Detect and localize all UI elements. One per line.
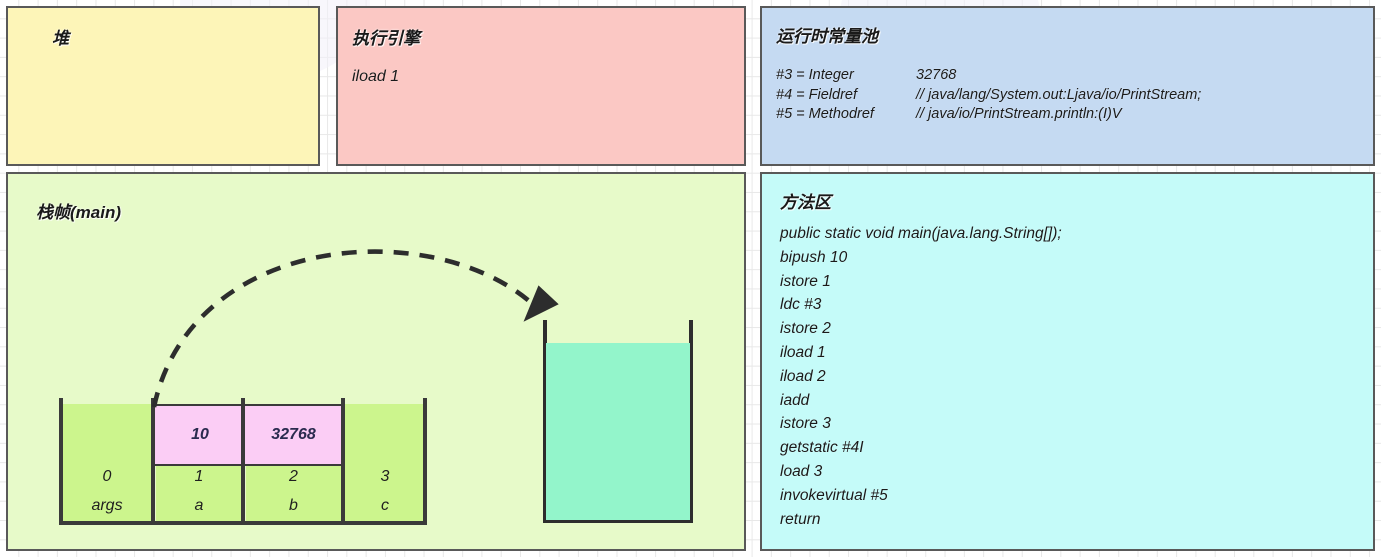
bytecode-line: ldc #3 (780, 293, 1062, 317)
runtime-constant-pool-title: 运行时常量池 (776, 22, 878, 47)
entry-key: #5 = Methodref (776, 105, 916, 125)
execution-engine-panel: 执行引擎 iload 1 (336, 6, 746, 166)
entry-key: #4 = Fieldref (776, 86, 916, 106)
slot-2-name: b (246, 497, 341, 515)
slot-0-name: args (62, 497, 152, 515)
bytecode-line: bipush 10 (780, 246, 1062, 270)
runtime-constant-pool-panel: 运行时常量池 #3 = Integer 32768 #4 = Fieldref … (760, 6, 1375, 166)
operand-stack (543, 320, 693, 523)
constant-pool-entry: #5 = Methodref // java/io/PrintStream.pr… (776, 105, 1201, 125)
bytecode-line: load 3 (780, 460, 1062, 484)
bytecode-line: iload 2 (780, 365, 1062, 389)
bytecode-line: invokevirtual #5 (780, 484, 1062, 508)
slot-2-value: 32768 (244, 404, 343, 466)
bytecode-line: iadd (780, 389, 1062, 413)
operand-stack-fill (546, 343, 690, 520)
slot-3-name: c (345, 497, 425, 515)
slot-3-index: 3 (345, 468, 425, 486)
constant-pool-entry: #3 = Integer 32768 (776, 66, 1201, 86)
bytecode-line: return (780, 508, 1062, 532)
slot-2-index: 2 (246, 468, 341, 486)
bytecode-line: iload 1 (780, 341, 1062, 365)
slot-1-index: 1 (156, 468, 242, 486)
method-area-bytecode: public static void main(java.lang.String… (780, 222, 1062, 531)
entry-value: // java/io/PrintStream.println:(I)V (916, 105, 1122, 125)
bytecode-line: getstatic #4I (780, 436, 1062, 460)
slot-1-value: 10 (154, 404, 246, 466)
local-variable-table: 10 32768 0 args 1 a 2 b 3 c (56, 398, 431, 525)
slot-0-index: 0 (62, 468, 152, 486)
stack-frame-title: 栈帧(main) (36, 198, 121, 223)
lvt-wall-bottom (59, 521, 427, 525)
bytecode-line: public static void main(java.lang.String… (780, 222, 1062, 246)
entry-value: 32768 (916, 66, 956, 86)
method-area-title: 方法区 (780, 188, 831, 213)
heap-panel: 堆 (6, 6, 320, 166)
bytecode-line: istore 2 (780, 317, 1062, 341)
diagram-canvas: 堆 执行引擎 iload 1 运行时常量池 #3 = Integer 32768… (0, 0, 1381, 557)
bytecode-line: istore 1 (780, 270, 1062, 294)
constant-pool-entry: #4 = Fieldref // java/lang/System.out:Lj… (776, 86, 1201, 106)
constant-pool-entries: #3 = Integer 32768 #4 = Fieldref // java… (776, 66, 1201, 125)
slot-1-name: a (156, 497, 242, 515)
entry-value: // java/lang/System.out:Ljava/io/PrintSt… (916, 86, 1201, 106)
execution-engine-title: 执行引擎 (352, 24, 420, 49)
current-instruction: iload 1 (352, 68, 399, 86)
entry-key: #3 = Integer (776, 66, 916, 86)
method-area-panel: 方法区 public static void main(java.lang.St… (760, 172, 1375, 551)
bytecode-line: istore 3 (780, 412, 1062, 436)
heap-title: 堆 (52, 24, 69, 49)
